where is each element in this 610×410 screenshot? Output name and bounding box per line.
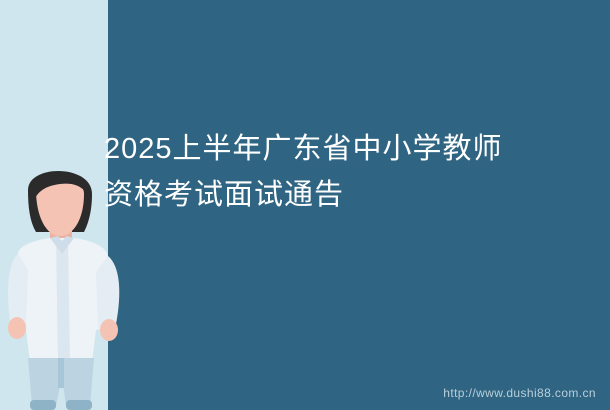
page-title: 2025上半年广东省中小学教师 资格考试面试通告 [104, 126, 574, 218]
banner: 2025上半年广东省中小学教师 资格考试面试通告 http://www.dush… [0, 0, 610, 410]
watermark-url: http://www.dushi88.com.cn [443, 386, 596, 400]
